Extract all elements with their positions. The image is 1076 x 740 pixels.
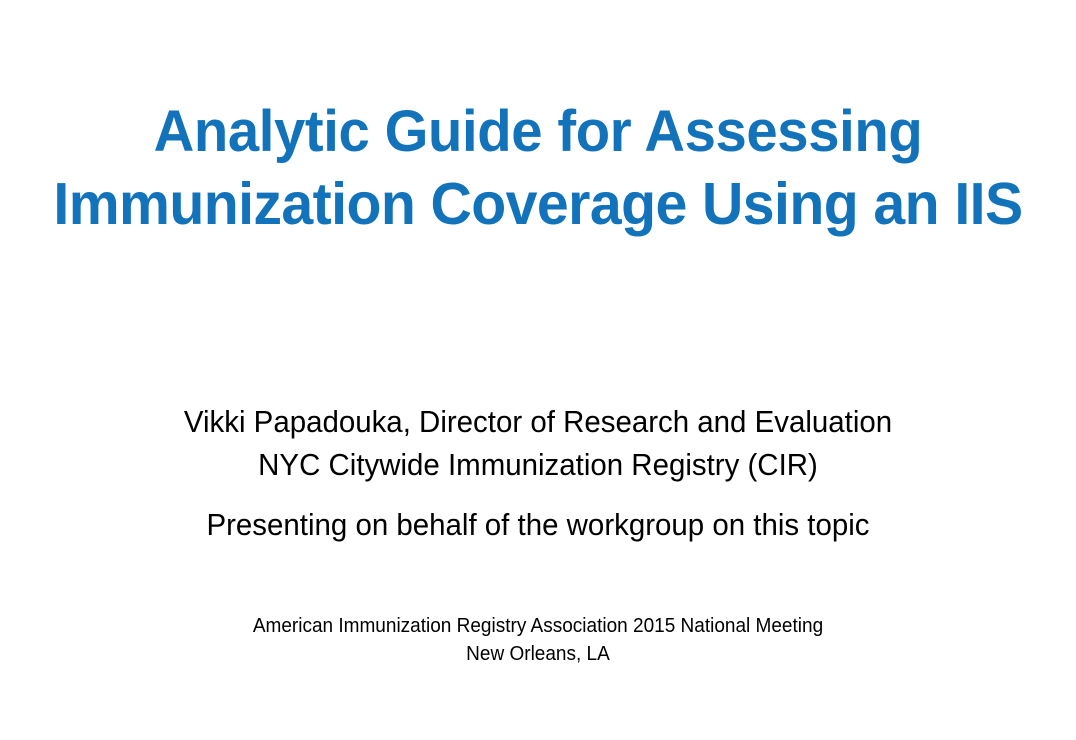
title-line-1: Analytic Guide for Assessing — [16, 96, 1060, 168]
conference-block: American Immunization Registry Associati… — [0, 612, 1076, 668]
title-slide: Analytic Guide for Assessing Immunizatio… — [0, 0, 1076, 740]
presenter-name-and-role: Vikki Papadouka, Director of Research an… — [27, 400, 1049, 443]
presenter-note: Presenting on behalf of the workgroup on… — [27, 503, 1049, 546]
slide-title: Analytic Guide for Assessing Immunizatio… — [0, 96, 1076, 240]
conference-location: New Orleans, LA — [27, 640, 1049, 668]
conference-event: American Immunization Registry Associati… — [27, 612, 1049, 640]
presenter-block: Vikki Papadouka, Director of Research an… — [0, 400, 1076, 546]
presenter-organization: NYC Citywide Immunization Registry (CIR) — [27, 443, 1049, 486]
title-line-2: Immunization Coverage Using an IIS — [16, 168, 1060, 240]
